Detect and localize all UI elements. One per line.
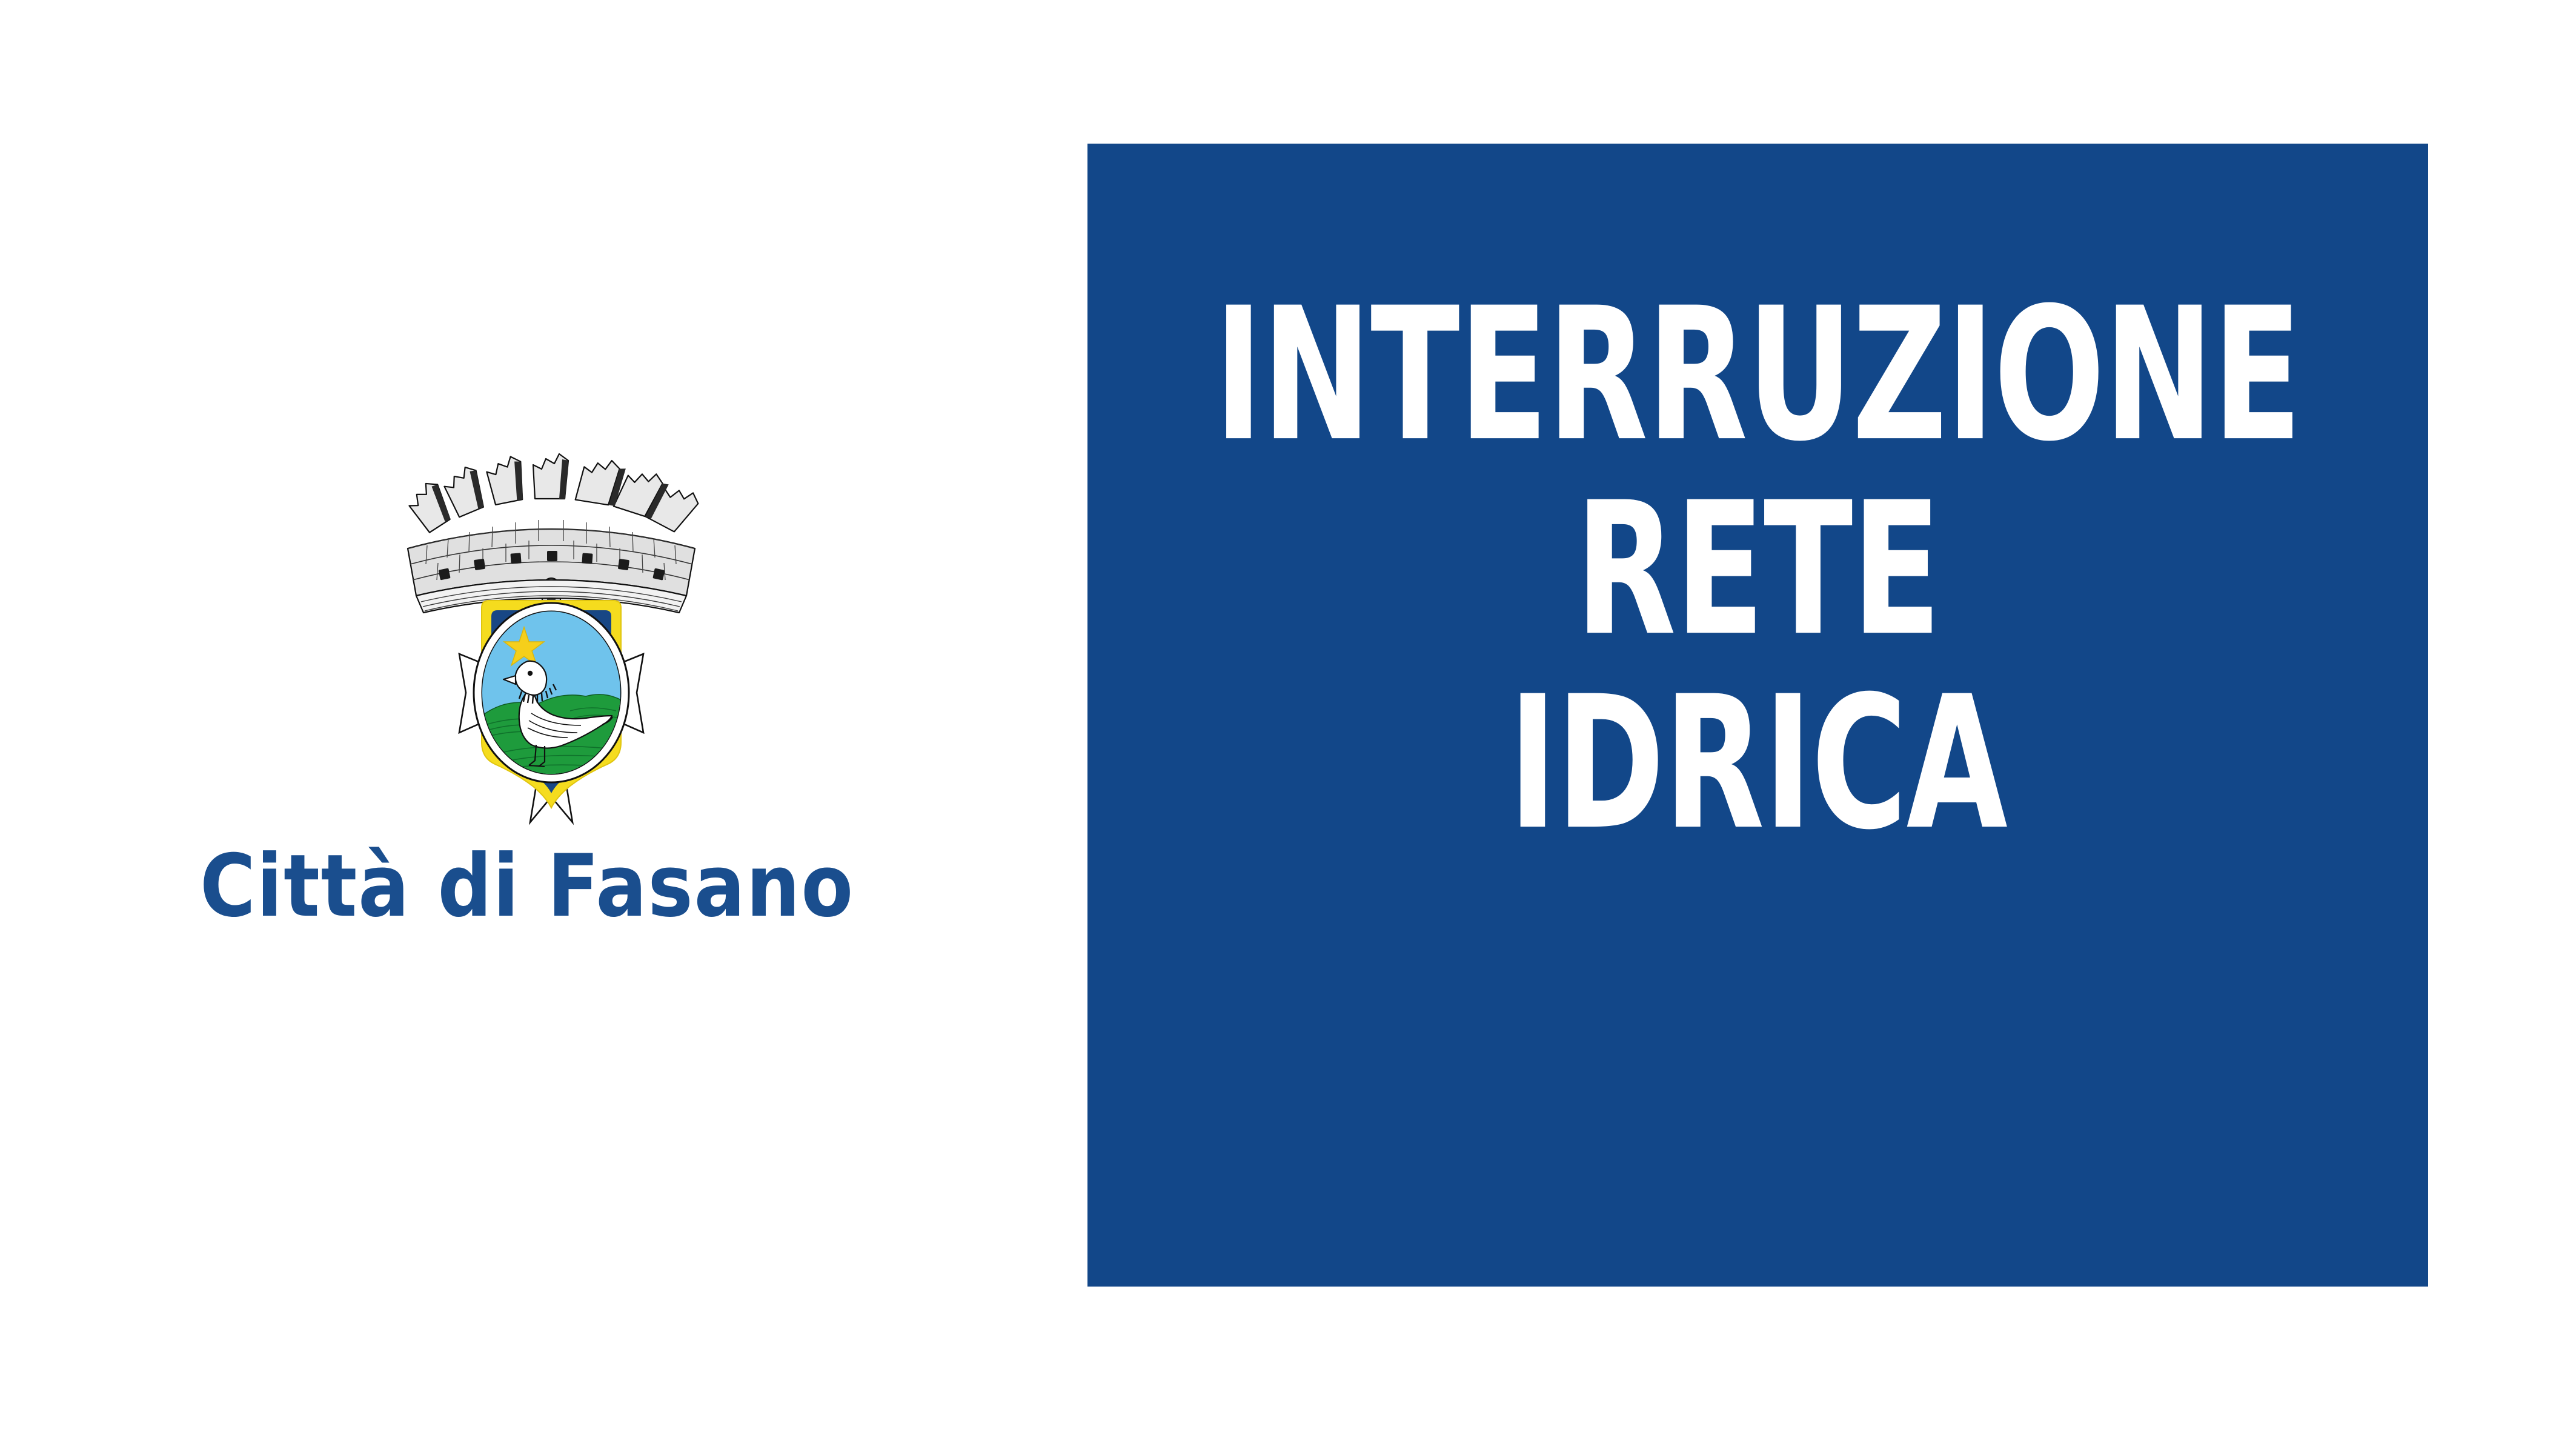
fasano-coat-of-arms-icon bbox=[336, 451, 766, 839]
emblem-block: Città di Fasano bbox=[0, 0, 1087, 1432]
city-name-label: Città di Fasano bbox=[63, 844, 991, 930]
notice-line-interruzione: INTERRUZIONE bbox=[1215, 285, 2302, 465]
notice-line-rete: RETE bbox=[1575, 480, 1940, 659]
mural-crown-icon bbox=[403, 454, 701, 613]
notice-line-idrica: IDRICA bbox=[1509, 674, 2007, 853]
notice-panel: INTERRUZIONE RETE IDRICA bbox=[1087, 144, 2428, 1287]
shield-icon bbox=[474, 601, 629, 808]
